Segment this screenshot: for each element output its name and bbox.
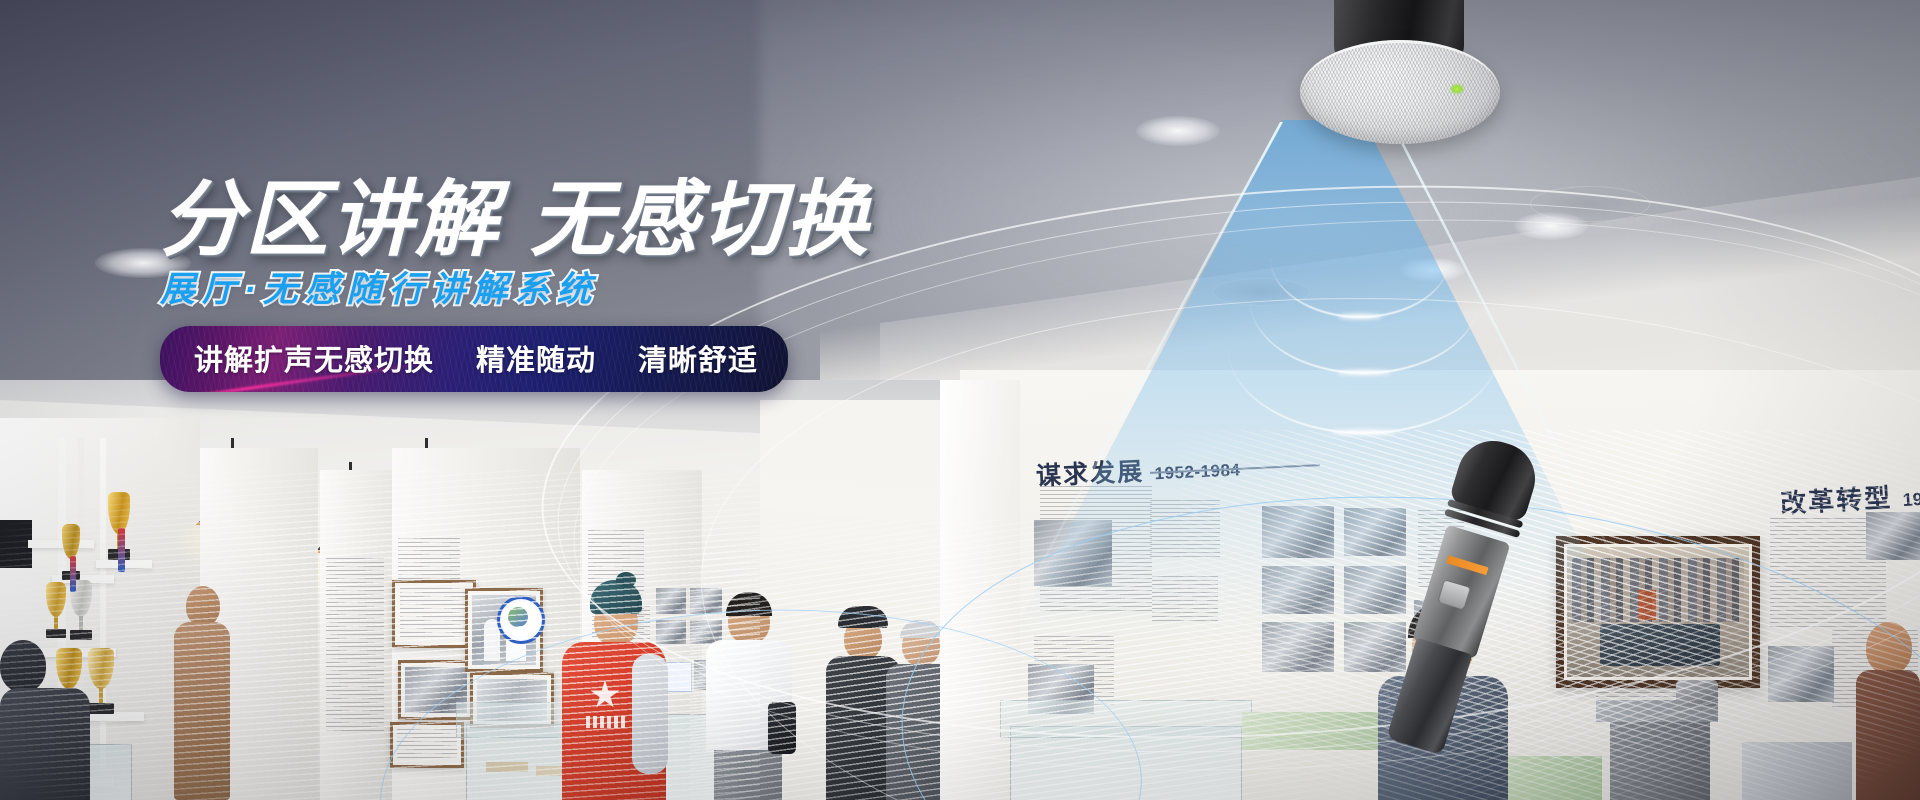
hero-banner: 谋求发展 1952-1984 改革转型 1984-2010 [0, 0, 1920, 800]
page-title: 分区讲解无感切换 [160, 178, 980, 261]
trophy [88, 648, 114, 714]
badge-item-1: 精准随动 [476, 337, 596, 379]
trophy-shelf [28, 540, 94, 548]
speaker-status-led [1450, 84, 1464, 94]
emblem-inner [508, 607, 528, 627]
ceiling-speaker [1300, 0, 1500, 152]
visitor-left-foreground [0, 640, 90, 800]
trophy [46, 582, 66, 638]
feature-badge: 讲解扩声无感切换 精准随动 清晰舒适 [160, 326, 788, 392]
exhibit-framed-calligraphy [392, 580, 476, 648]
speaker-rim [1300, 40, 1500, 147]
microphone-body [1386, 638, 1472, 755]
title-part-2: 无感切换 [530, 173, 870, 266]
exhibit-text-panel [326, 558, 384, 734]
badge-item-0: 讲解扩声无感切换 [194, 337, 434, 379]
trophy-ribbon [118, 528, 125, 572]
ceiling-downlight [1136, 116, 1220, 146]
hero-copy: 分区讲解无感切换 展厅·无感随行讲解系统 讲解扩声无感切换 精准随动 清晰舒适 [160, 178, 980, 397]
trophy-ribbon [70, 556, 76, 592]
page-subtitle: 展厅·无感随行讲解系统 [160, 271, 980, 310]
badge-item-list: 讲解扩声无感切换 精准随动 清晰舒适 [194, 337, 758, 379]
visitor-statue [170, 586, 232, 800]
badge-item-2: 清晰舒适 [638, 337, 758, 379]
title-part-1: 分区讲解 [160, 173, 500, 266]
